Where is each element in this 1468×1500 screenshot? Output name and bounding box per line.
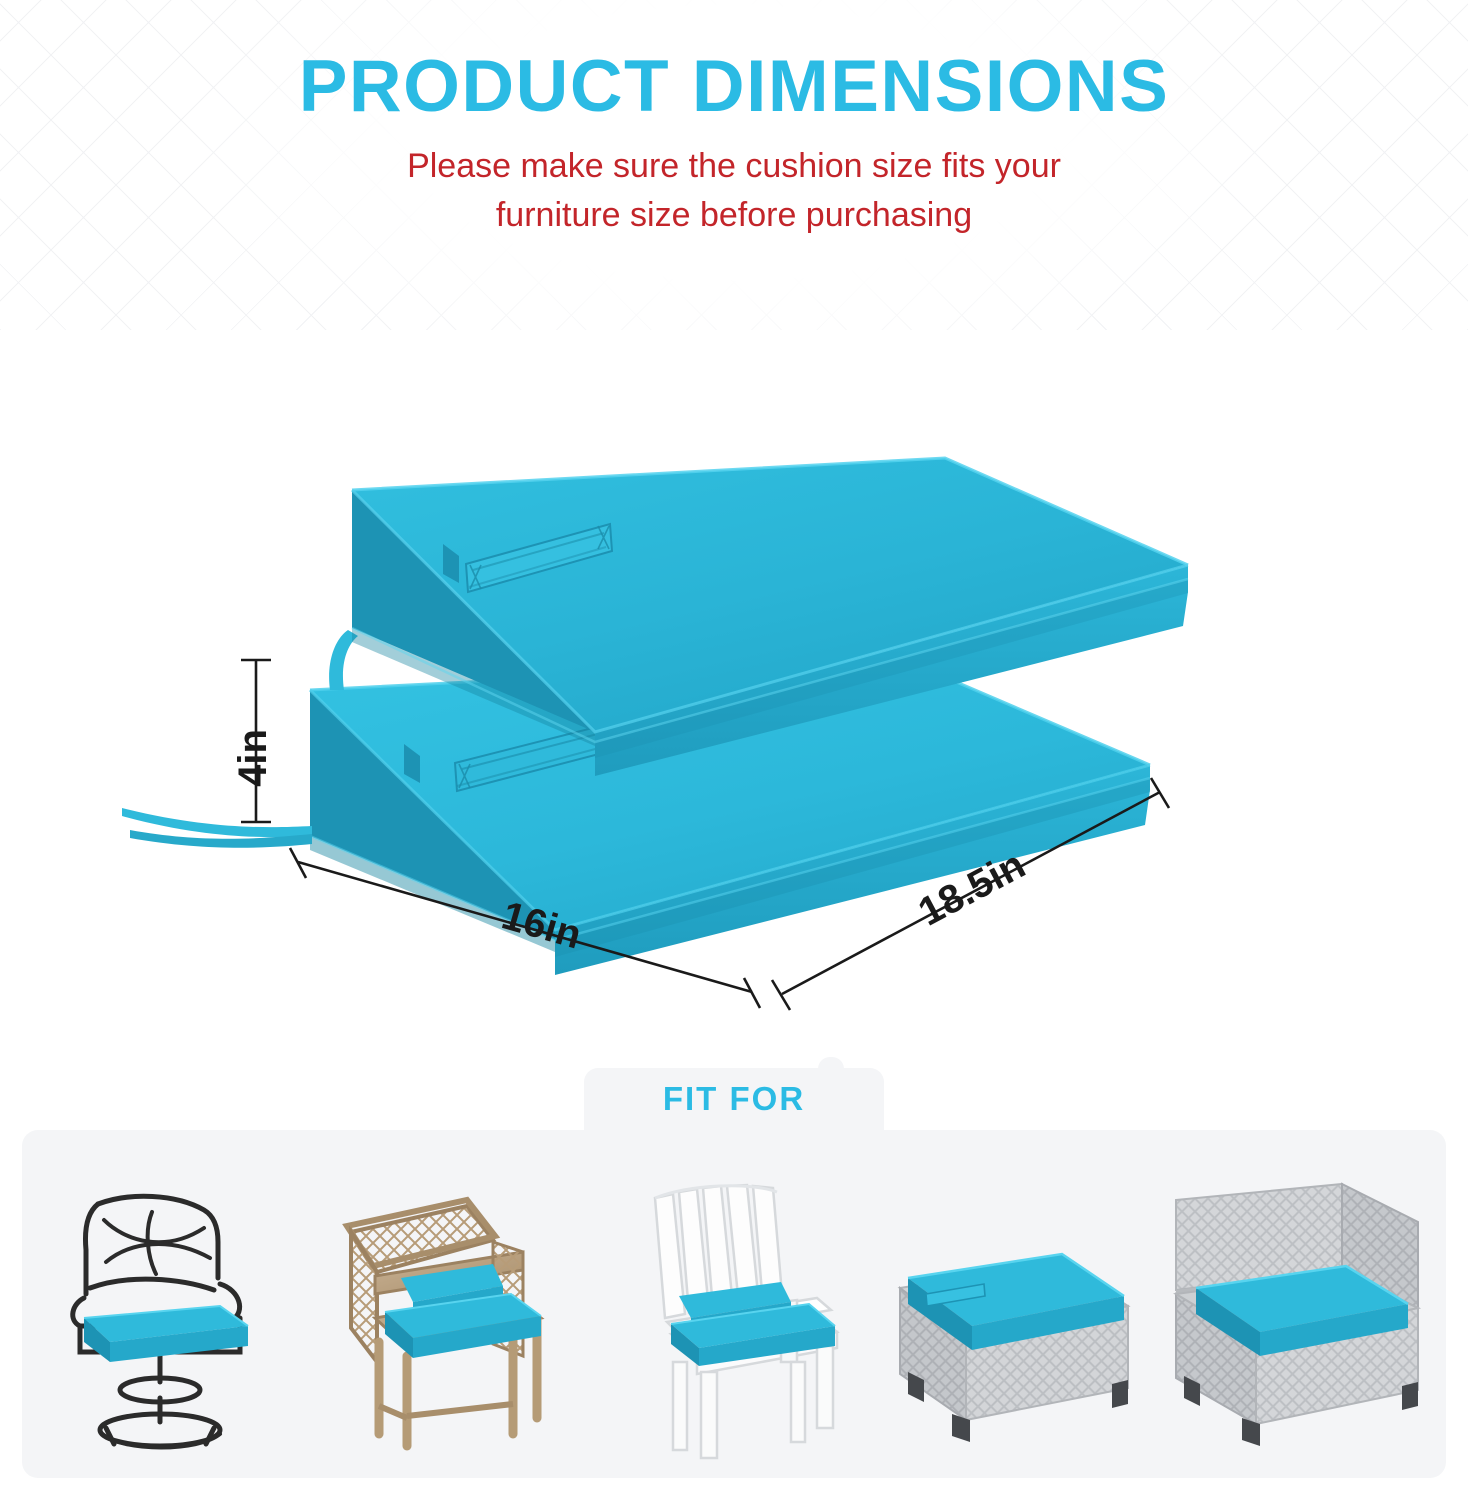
fit-item-swivel-metal-patio-chair <box>22 1146 306 1466</box>
header: PRODUCT DIMENSIONS Please make sure the … <box>0 50 1468 239</box>
fit-for-label: FIT FOR <box>663 1080 805 1118</box>
white-adirondack-chair-icon <box>601 1166 861 1466</box>
fit-for-tab: FIT FOR <box>584 1068 884 1130</box>
fit-for-tab-wrapper: FIT FOR <box>0 1068 1468 1130</box>
subtitle-line-2: furniture size before purchasing <box>0 191 1468 239</box>
subtitle-line-1: Please make sure the cushion size fits y… <box>0 142 1468 190</box>
dimension-thickness-label: 4in <box>231 729 275 787</box>
fit-item-white-adirondack-chair <box>589 1146 873 1466</box>
fit-item-grey-wicker-ottoman <box>873 1146 1157 1466</box>
product-illustration: 4in 16in 18.5in <box>0 360 1468 1040</box>
page-subtitle: Please make sure the cushion size fits y… <box>0 142 1468 239</box>
grey-wicker-corner-sofa-icon <box>1156 1166 1446 1466</box>
swivel-metal-patio-chair-icon <box>44 1166 284 1466</box>
cushion-stack-diagram: 4in 16in 18.5in <box>0 360 1468 1040</box>
page-title: PRODUCT DIMENSIONS <box>0 50 1468 124</box>
wicker-dining-armchair-icon <box>317 1166 577 1466</box>
tab-notch <box>818 1057 844 1079</box>
fit-item-wicker-dining-armchair <box>306 1146 590 1466</box>
grey-wicker-ottoman-icon <box>874 1166 1154 1466</box>
fit-item-grey-wicker-corner-sofa <box>1156 1146 1446 1466</box>
fit-for-items <box>22 1146 1446 1466</box>
